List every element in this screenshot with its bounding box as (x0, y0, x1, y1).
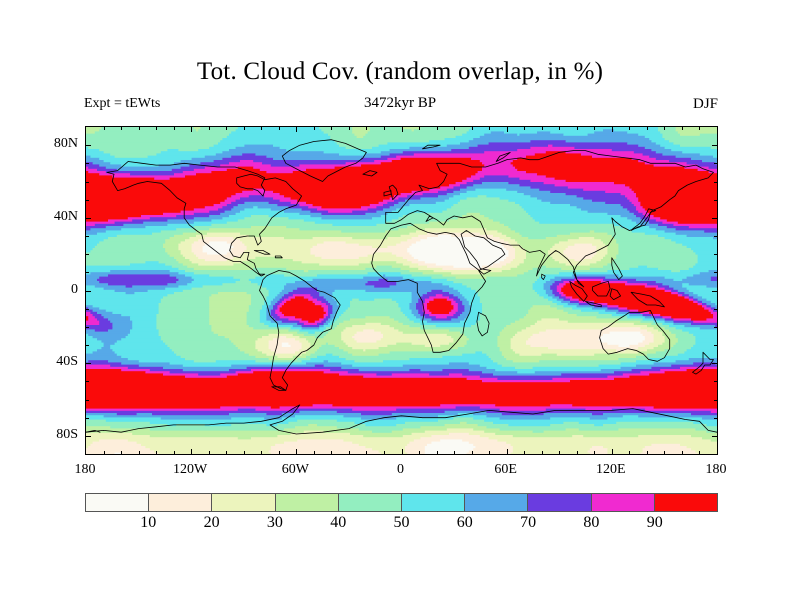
x-tick-label: 60E (476, 462, 536, 478)
axis-tick (85, 254, 89, 255)
axis-tick (507, 126, 508, 132)
axis-tick (714, 327, 718, 328)
axis-tick (647, 126, 648, 130)
axis-tick (402, 449, 403, 455)
axis-tick (712, 291, 718, 292)
axis-tick (139, 126, 140, 130)
y-tick-label: 40S (32, 354, 78, 370)
axis-tick (85, 400, 89, 401)
axis-tick (714, 200, 718, 201)
axis-tick (489, 451, 490, 455)
colorbar-band[interactable] (149, 494, 212, 511)
axis-tick (714, 345, 718, 346)
axis-tick (714, 381, 718, 382)
axis-tick (559, 451, 560, 455)
axis-tick (121, 451, 122, 455)
colorbar-band[interactable] (528, 494, 591, 511)
axis-tick (612, 449, 613, 455)
axis-tick (279, 126, 280, 130)
axis-tick (296, 449, 297, 455)
axis-tick (594, 451, 595, 455)
axis-tick (209, 126, 210, 130)
colorbar-tick-label: 70 (506, 514, 550, 532)
x-tick-label: 0 (371, 462, 431, 478)
axis-tick (577, 451, 578, 455)
colorbar-band[interactable] (212, 494, 275, 511)
colorbar-band[interactable] (276, 494, 339, 511)
axis-tick (454, 451, 455, 455)
x-tick-label: 120E (581, 462, 641, 478)
axis-tick (331, 126, 332, 130)
axis-tick (85, 345, 89, 346)
axis-tick (191, 449, 192, 455)
axis-tick (714, 163, 718, 164)
axis-tick (226, 451, 227, 455)
axis-tick (712, 218, 718, 219)
x-tick-label: 180 (55, 462, 115, 478)
axis-tick (714, 400, 718, 401)
axis-tick (629, 126, 630, 130)
axis-tick (85, 309, 89, 310)
axis-tick (85, 418, 89, 419)
axis-tick (139, 451, 140, 455)
axis-tick (331, 451, 332, 455)
axis-tick (296, 126, 297, 132)
axis-tick (244, 451, 245, 455)
axis-tick (244, 126, 245, 130)
y-tick-label: 40N (32, 209, 78, 225)
axis-tick (714, 236, 718, 237)
axis-tick (85, 272, 89, 273)
axis-tick (209, 451, 210, 455)
axis-tick (279, 451, 280, 455)
axis-tick (85, 236, 89, 237)
colorbar[interactable] (85, 493, 718, 512)
axis-tick (85, 182, 89, 183)
x-tick-label: 120W (160, 462, 220, 478)
axis-tick (437, 126, 438, 130)
axis-tick (85, 363, 91, 364)
colorbar-band[interactable] (655, 494, 717, 511)
axis-tick (191, 126, 192, 132)
x-axis-labels: 180120W60W060E120E180 (85, 462, 718, 484)
axis-tick (594, 126, 595, 130)
axis-tick (682, 451, 683, 455)
y-tick-label: 80N (32, 136, 78, 152)
figure-canvas: Tot. Cloud Cov. (random overlap, in %) 3… (0, 0, 800, 600)
colorbar-tick-label: 60 (443, 514, 487, 532)
page-title: Tot. Cloud Cov. (random overlap, in %) (0, 58, 800, 86)
axis-tick (226, 126, 227, 130)
axis-tick (366, 126, 367, 130)
axis-tick (85, 436, 91, 437)
axis-tick (121, 126, 122, 130)
axis-tick (261, 451, 262, 455)
axis-tick (314, 451, 315, 455)
axis-tick (664, 451, 665, 455)
colorbar-band[interactable] (402, 494, 465, 511)
y-tick-label: 0 (32, 282, 78, 298)
colorbar-tick-label: 50 (380, 514, 424, 532)
colorbar-band[interactable] (86, 494, 149, 511)
cloud-cover-heatmap (86, 127, 717, 454)
y-tick-label: 80S (32, 427, 78, 443)
axis-tick (629, 451, 630, 455)
axis-tick (349, 451, 350, 455)
axis-tick (384, 126, 385, 130)
axis-tick (714, 254, 718, 255)
axis-tick (454, 126, 455, 130)
axis-tick (507, 449, 508, 455)
colorbar-tick-label: 20 (190, 514, 234, 532)
axis-tick (104, 451, 105, 455)
axis-tick (682, 126, 683, 130)
axis-tick (524, 126, 525, 130)
axis-tick (699, 126, 700, 130)
axis-tick (366, 451, 367, 455)
axis-tick (664, 126, 665, 130)
experiment-label: Expt = tEWts (84, 96, 160, 112)
axis-tick (174, 126, 175, 130)
axis-tick (85, 145, 91, 146)
axis-tick (714, 272, 718, 273)
colorbar-tick-label: 30 (253, 514, 297, 532)
axis-tick (104, 126, 105, 130)
axis-tick (714, 418, 718, 419)
axis-tick (542, 126, 543, 130)
map-plot-area[interactable] (85, 126, 718, 455)
colorbar-tick-label: 80 (569, 514, 613, 532)
axis-tick (419, 126, 420, 130)
axis-tick (699, 451, 700, 455)
colorbar-tick-label: 40 (316, 514, 360, 532)
axis-tick (261, 126, 262, 130)
axis-tick (156, 451, 157, 455)
axis-tick (559, 126, 560, 130)
axis-tick (714, 182, 718, 183)
colorbar-tick-label: 10 (126, 514, 170, 532)
axis-tick (437, 451, 438, 455)
axis-tick (349, 126, 350, 130)
axis-tick (647, 451, 648, 455)
axis-tick (472, 451, 473, 455)
axis-tick (156, 126, 157, 130)
x-tick-label: 180 (686, 462, 746, 478)
axis-tick (174, 451, 175, 455)
axis-tick (472, 126, 473, 130)
season-label: DJF (693, 96, 718, 113)
axis-tick (712, 363, 718, 364)
axis-tick (712, 145, 718, 146)
colorbar-band[interactable] (592, 494, 655, 511)
axis-tick (712, 436, 718, 437)
axis-tick (714, 309, 718, 310)
axis-tick (384, 451, 385, 455)
axis-tick (402, 126, 403, 132)
axis-tick (85, 291, 91, 292)
axis-tick (612, 126, 613, 132)
axis-tick (85, 327, 89, 328)
colorbar-band[interactable] (339, 494, 402, 511)
y-axis-labels: 80N40N040S80S (30, 126, 78, 455)
axis-tick (85, 381, 89, 382)
axis-tick (85, 218, 91, 219)
axis-tick (85, 200, 89, 201)
axis-tick (489, 126, 490, 130)
x-tick-label: 60W (265, 462, 325, 478)
axis-tick (85, 163, 89, 164)
colorbar-labels: 102030405060708090 (85, 514, 718, 536)
axis-tick (577, 126, 578, 130)
axis-tick (419, 451, 420, 455)
colorbar-band[interactable] (465, 494, 528, 511)
axis-tick (524, 451, 525, 455)
colorbar-tick-label: 90 (633, 514, 677, 532)
axis-tick (314, 126, 315, 130)
axis-tick (542, 451, 543, 455)
